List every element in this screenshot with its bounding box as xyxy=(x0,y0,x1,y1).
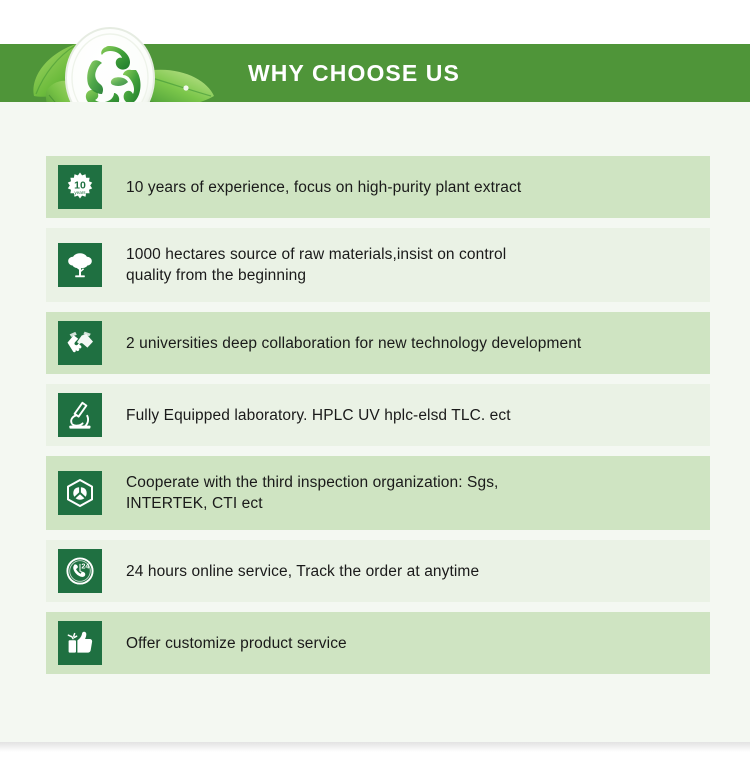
list-item-line: 10 years of experience, focus on high-pu… xyxy=(126,177,521,198)
cube-box-icon xyxy=(58,471,102,515)
list-item-text: 1000 hectares source of raw materials,in… xyxy=(126,244,506,286)
svg-text:24: 24 xyxy=(81,561,89,570)
list-item-line: Fully Equipped laboratory. HPLC UV hplc-… xyxy=(126,405,511,426)
panel-shadow xyxy=(0,742,750,752)
list-item-text: 10 years of experience, focus on high-pu… xyxy=(126,177,521,198)
list-item-line: Offer customize product service xyxy=(126,633,347,654)
feature-list: 10 years 10 years of experience, focus o… xyxy=(46,156,710,684)
list-item: Cooperate with the third inspection orga… xyxy=(46,456,710,530)
handshake-icon xyxy=(58,321,102,365)
list-item: 10 years 10 years of experience, focus o… xyxy=(46,156,710,218)
list-item-line: 24 hours online service, Track the order… xyxy=(126,561,479,582)
list-item: 2 universities deep collaboration for ne… xyxy=(46,312,710,374)
list-item-line: 1000 hectares source of raw materials,in… xyxy=(126,244,506,265)
list-item-text: Cooperate with the third inspection orga… xyxy=(126,472,498,514)
thumbs-up-icon xyxy=(58,621,102,665)
list-item: Offer customize product service xyxy=(46,612,710,674)
why-choose-us-banner: WHY CHOOSE US 10 years 10 years of exper… xyxy=(0,0,750,766)
list-item-line: 2 universities deep collaboration for ne… xyxy=(126,333,581,354)
twentyfour-hour-clock-icon: 24 xyxy=(58,549,102,593)
list-item-line: Cooperate with the third inspection orga… xyxy=(126,472,498,493)
list-item-text: Fully Equipped laboratory. HPLC UV hplc-… xyxy=(126,405,511,426)
list-item: 24 24 hours online service, Track the or… xyxy=(46,540,710,602)
svg-text:years: years xyxy=(74,190,86,195)
tree-icon xyxy=(58,243,102,287)
list-item: Fully Equipped laboratory. HPLC UV hplc-… xyxy=(46,384,710,446)
ten-years-badge-icon: 10 years xyxy=(58,165,102,209)
list-item-text: 24 hours online service, Track the order… xyxy=(126,561,479,582)
list-item-text: Offer customize product service xyxy=(126,633,347,654)
list-item: 1000 hectares source of raw materials,in… xyxy=(46,228,710,302)
microscope-icon xyxy=(58,393,102,437)
list-item-line: INTERTEK, CTI ect xyxy=(126,493,498,514)
page-title: WHY CHOOSE US xyxy=(248,58,460,88)
list-item-line: quality from the beginning xyxy=(126,265,506,286)
list-item-text: 2 universities deep collaboration for ne… xyxy=(126,333,581,354)
